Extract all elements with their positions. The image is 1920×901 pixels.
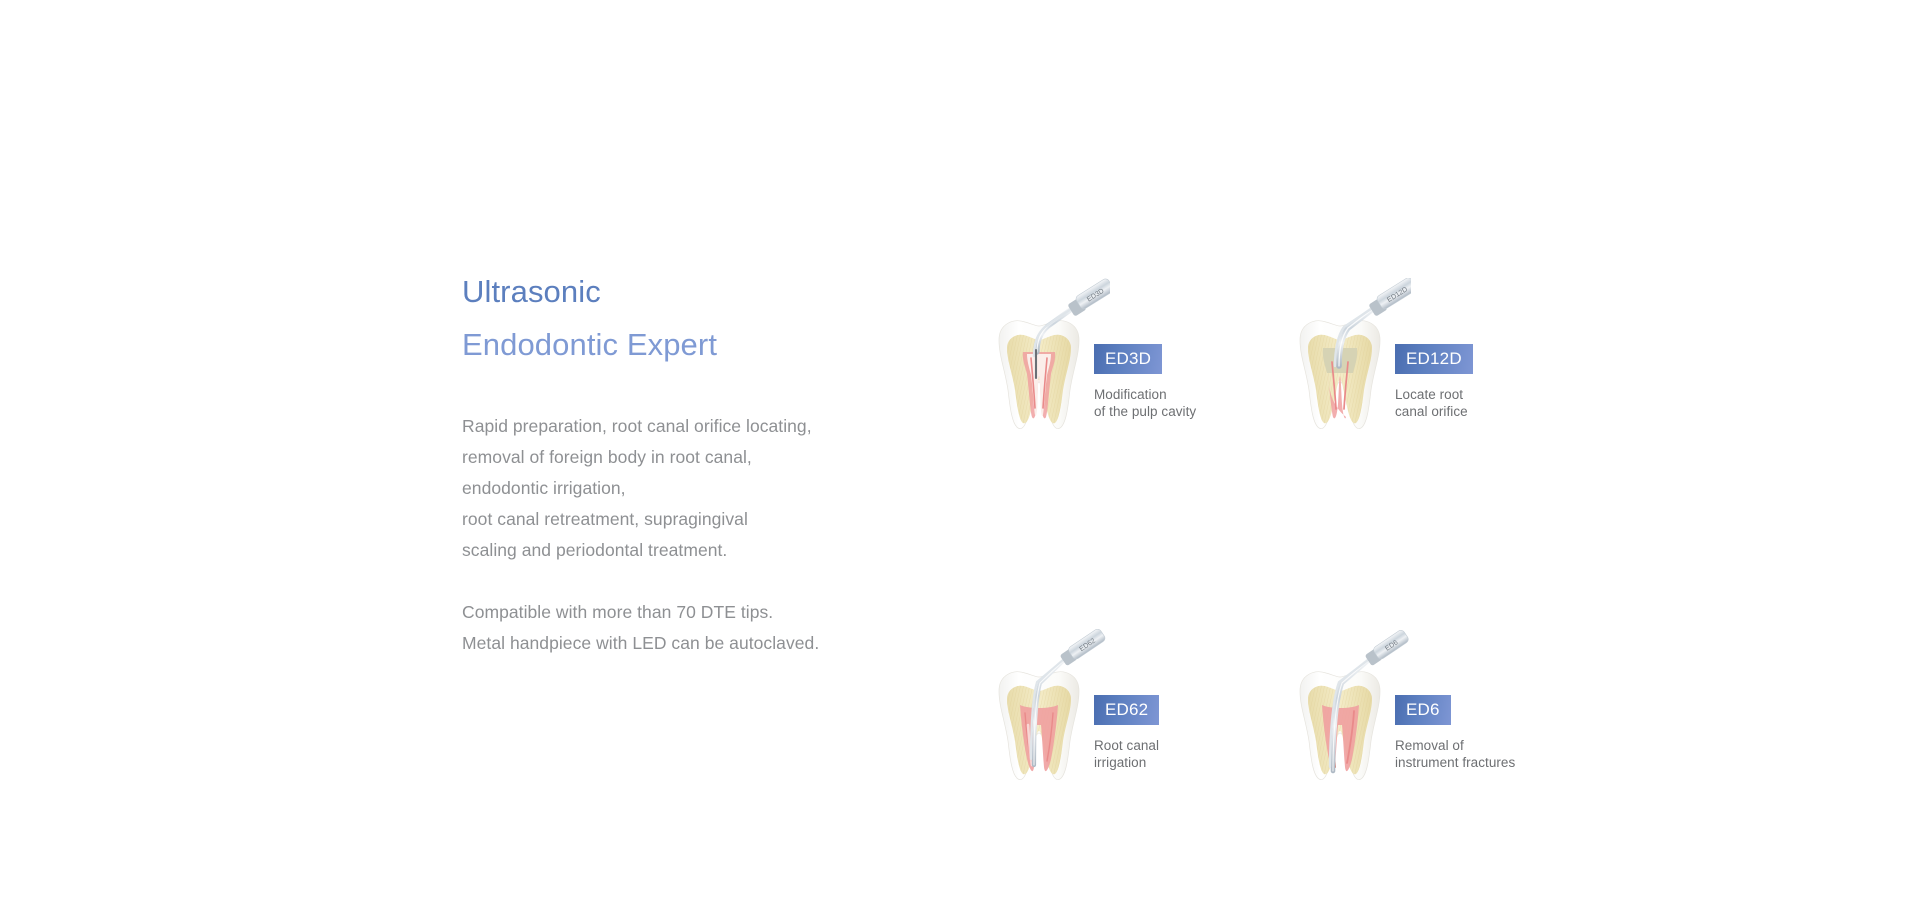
page-title-line-2: Endodontic Expert: [462, 318, 932, 371]
tooth-with-ultrasonic-tip-icon: ED3D: [985, 278, 1110, 433]
page-title-line-1: Ultrasonic: [462, 265, 932, 318]
tooth-with-ultrasonic-tip-icon: ED12D: [1286, 278, 1411, 433]
tip-card-ed62[interactable]: ED62 ED62 Root canal irrigation: [985, 629, 1284, 784]
tip-card-row: ED62 ED62 Root canal irrigation: [985, 629, 1585, 784]
tip-card-ed12d[interactable]: ED12D ED12D Locate root canal orifice: [1284, 278, 1585, 433]
description-line: Compatible with more than 70 DTE tips.: [462, 597, 932, 628]
description-block: Rapid preparation, root canal orifice lo…: [462, 411, 932, 659]
description-line: scaling and periodontal treatment.: [462, 535, 932, 566]
text-column: Ultrasonic Endodontic Expert Rapid prepa…: [462, 265, 932, 659]
tip-card-ed6[interactable]: ED6 ED6 Removal of instrument fractures: [1284, 629, 1585, 784]
page-title: Ultrasonic Endodontic Expert: [462, 265, 932, 371]
tip-caption-line: instrument fractures: [1395, 754, 1515, 771]
tip-card-row: ED3D ED3D Modification of the pulp cavit…: [985, 278, 1585, 433]
tip-card-ed3d[interactable]: ED3D ED3D Modification of the pulp cavit…: [985, 278, 1284, 433]
tip-card-grid: ED3D ED3D Modification of the pulp cavit…: [985, 278, 1585, 784]
product-feature-slide: Ultrasonic Endodontic Expert Rapid prepa…: [0, 0, 1920, 901]
tip-caption: Removal of instrument fractures: [1395, 737, 1515, 771]
paragraph-spacer: [462, 566, 932, 597]
description-line: Metal handpiece with LED can be autoclav…: [462, 628, 932, 659]
tip-caption-line: Removal of: [1395, 737, 1515, 754]
description-line: removal of foreign body in root canal,: [462, 442, 932, 473]
tooth-with-ultrasonic-tip-icon: ED6: [1286, 629, 1411, 784]
tooth-with-ultrasonic-tip-icon: ED62: [985, 629, 1110, 784]
description-line: Rapid preparation, root canal orifice lo…: [462, 411, 932, 442]
description-line: endodontic irrigation,: [462, 473, 932, 504]
tip-card-meta: ED6 Removal of instrument fractures: [1395, 629, 1515, 771]
description-line: root canal retreatment, supragingival: [462, 504, 932, 535]
